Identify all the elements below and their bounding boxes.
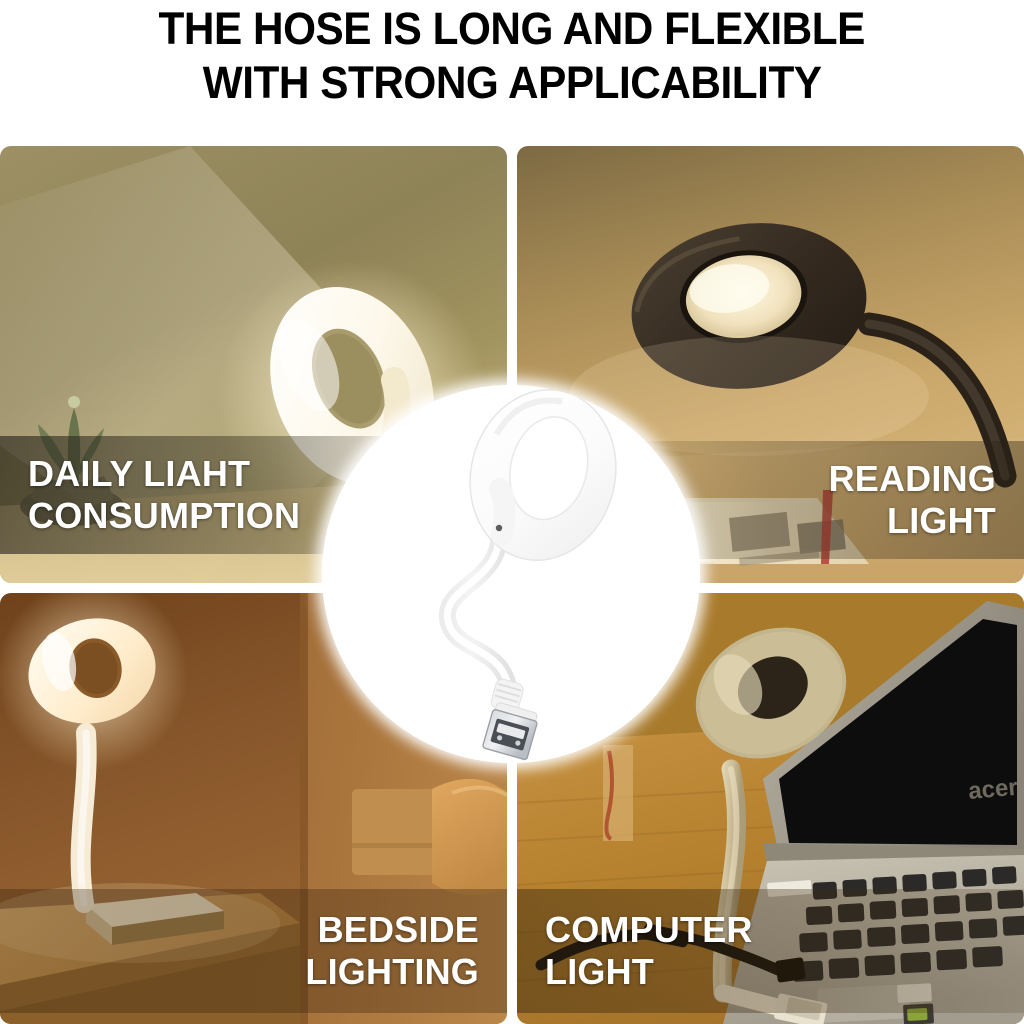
headline-line-2: WITH STRONG APPLICABILITY: [203, 56, 822, 110]
caption-line-1: READING: [829, 458, 996, 500]
caption-line-2: CONSUMPTION: [28, 495, 300, 537]
product-hero-circle[interactable]: [322, 385, 700, 763]
caption-line-1: COMPUTER: [545, 909, 753, 951]
caption-computer-light: COMPUTER LIGHT: [517, 889, 1024, 1013]
power-button-icon: [496, 525, 502, 531]
caption-line-1: DAILY LIAHT: [28, 453, 250, 495]
caption-bedside-lighting: BEDSIDE LIGHTING: [0, 889, 507, 1013]
laptop-brand-label: acer: [967, 774, 1019, 805]
caption-line-2: LIGHTING: [305, 951, 479, 993]
headline-line-1: THE HOSE IS LONG AND FLEXIBLE: [159, 2, 865, 56]
caption-line-2: LIGHT: [545, 951, 654, 993]
product-hero-illustration: [322, 385, 700, 763]
page-headline: THE HOSE IS LONG AND FLEXIBLE WITH STRON…: [0, 0, 1024, 130]
caption-line-2: LIGHT: [887, 500, 996, 542]
caption-line-1: BEDSIDE: [318, 909, 479, 951]
